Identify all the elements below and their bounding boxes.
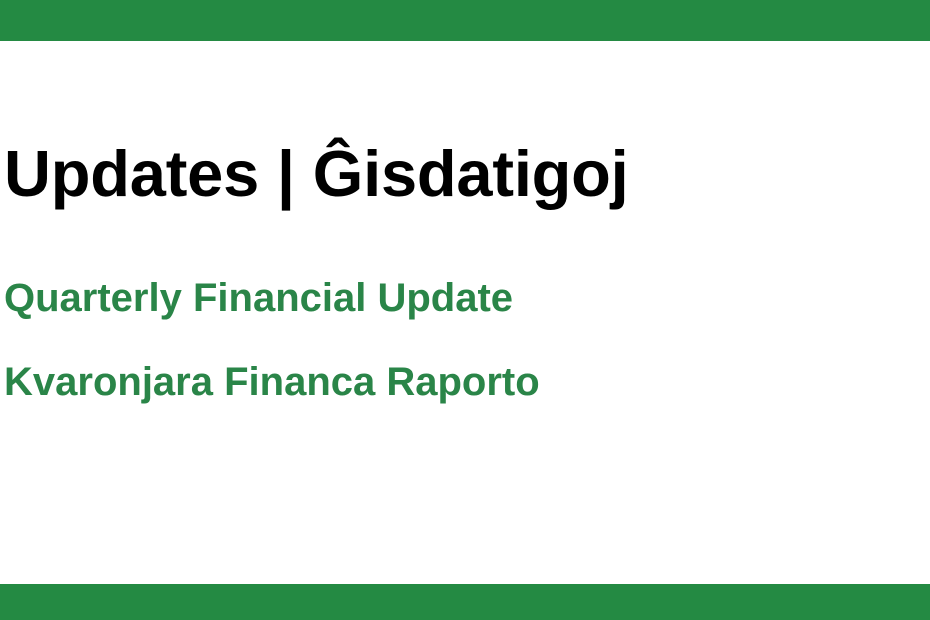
presentation-slide: Updates | Ĝisdatigoj Quarterly Financial… (0, 0, 930, 620)
slide-content-area: Updates | Ĝisdatigoj Quarterly Financial… (0, 41, 930, 584)
heading-esperanto: Kvaronjara Financa Raporto (4, 359, 904, 405)
bottom-accent-bar (0, 584, 930, 620)
top-accent-bar (0, 0, 930, 41)
heading-english: Quarterly Financial Update (4, 275, 904, 321)
heading-list: Quarterly Financial Update Kvaronjara Fi… (4, 275, 904, 405)
page-title: Updates | Ĝisdatigoj (4, 137, 629, 211)
